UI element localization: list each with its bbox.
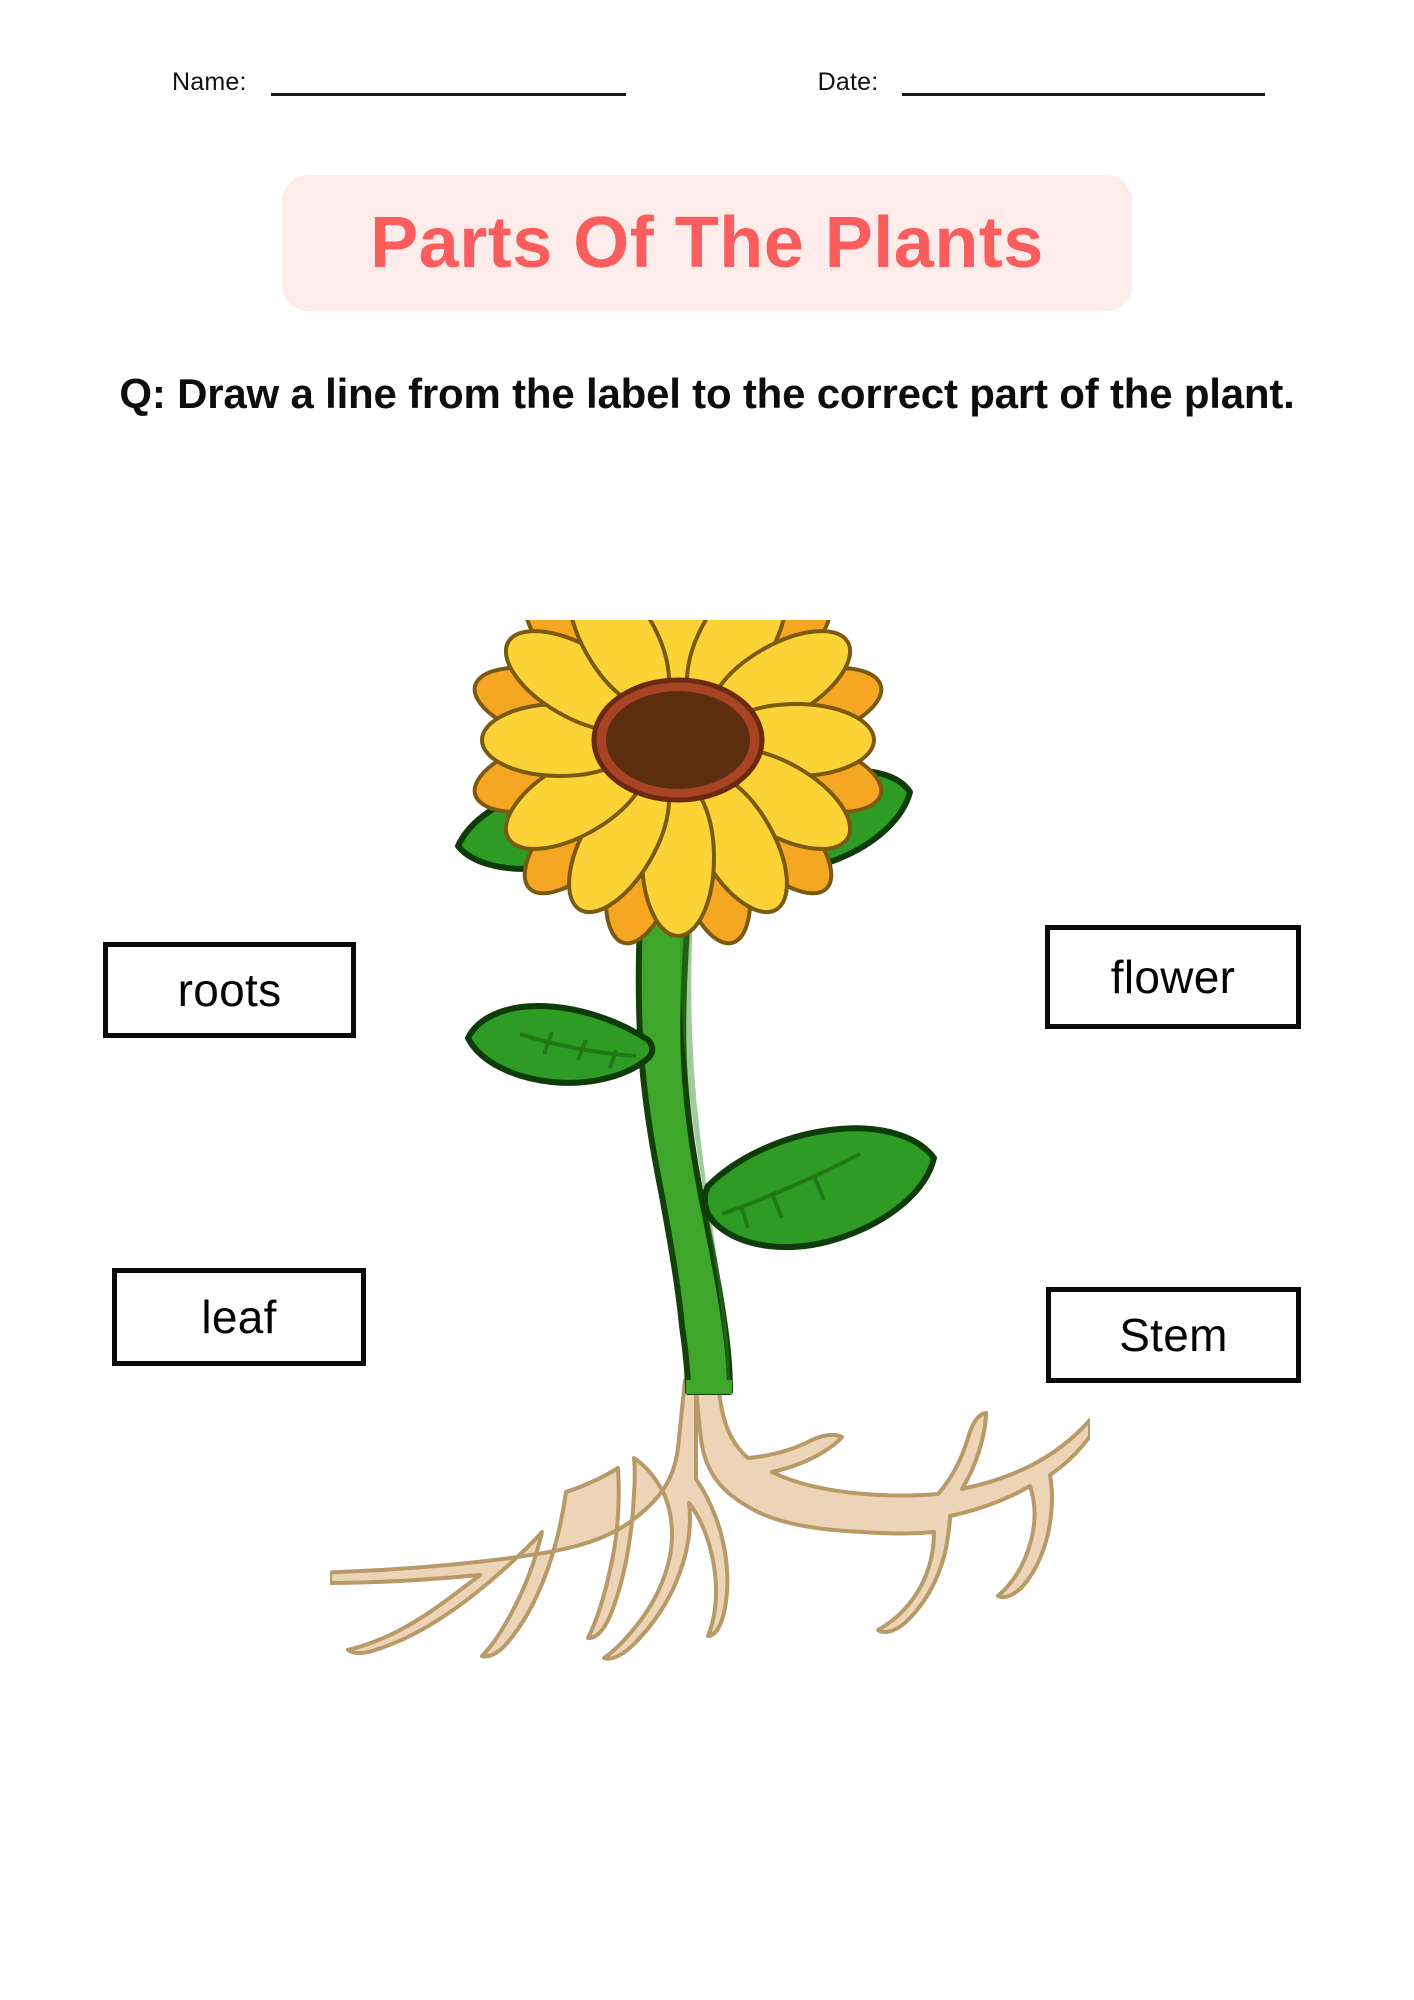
label-text-flower: flower [1111, 954, 1236, 1000]
label-box-leaf[interactable]: leaf [112, 1268, 366, 1366]
date-input-line[interactable] [902, 93, 1265, 96]
label-text-leaf: leaf [201, 1294, 276, 1340]
name-input-line[interactable] [271, 93, 626, 96]
stem-root-transition [686, 1380, 732, 1394]
name-label: Name: [172, 70, 247, 98]
date-label: Date: [818, 70, 879, 98]
roots-group [330, 1375, 1090, 1659]
label-text-stem: Stem [1119, 1312, 1228, 1358]
student-info-row: Name: Date: [0, 52, 1414, 98]
flower-head [466, 620, 889, 952]
date-field-group: Date: [818, 70, 1266, 98]
flower-center [606, 691, 750, 789]
leaf-lower-right [705, 1128, 934, 1247]
question-text: Q: Draw a line from the label to the cor… [80, 365, 1334, 423]
label-box-stem[interactable]: Stem [1046, 1287, 1301, 1383]
leaf-mid-left [468, 1006, 652, 1083]
worksheet-page: Name: Date: Parts Of The Plants Q: Draw … [0, 0, 1414, 2000]
title-banner: Parts Of The Plants [282, 175, 1132, 311]
label-text-roots: roots [178, 967, 282, 1013]
sunflower-plant-illustration [330, 620, 1090, 1720]
label-box-roots[interactable]: roots [103, 942, 356, 1038]
name-field-group: Name: [172, 70, 626, 98]
page-title: Parts Of The Plants [370, 207, 1044, 279]
label-box-flower[interactable]: flower [1045, 925, 1301, 1029]
